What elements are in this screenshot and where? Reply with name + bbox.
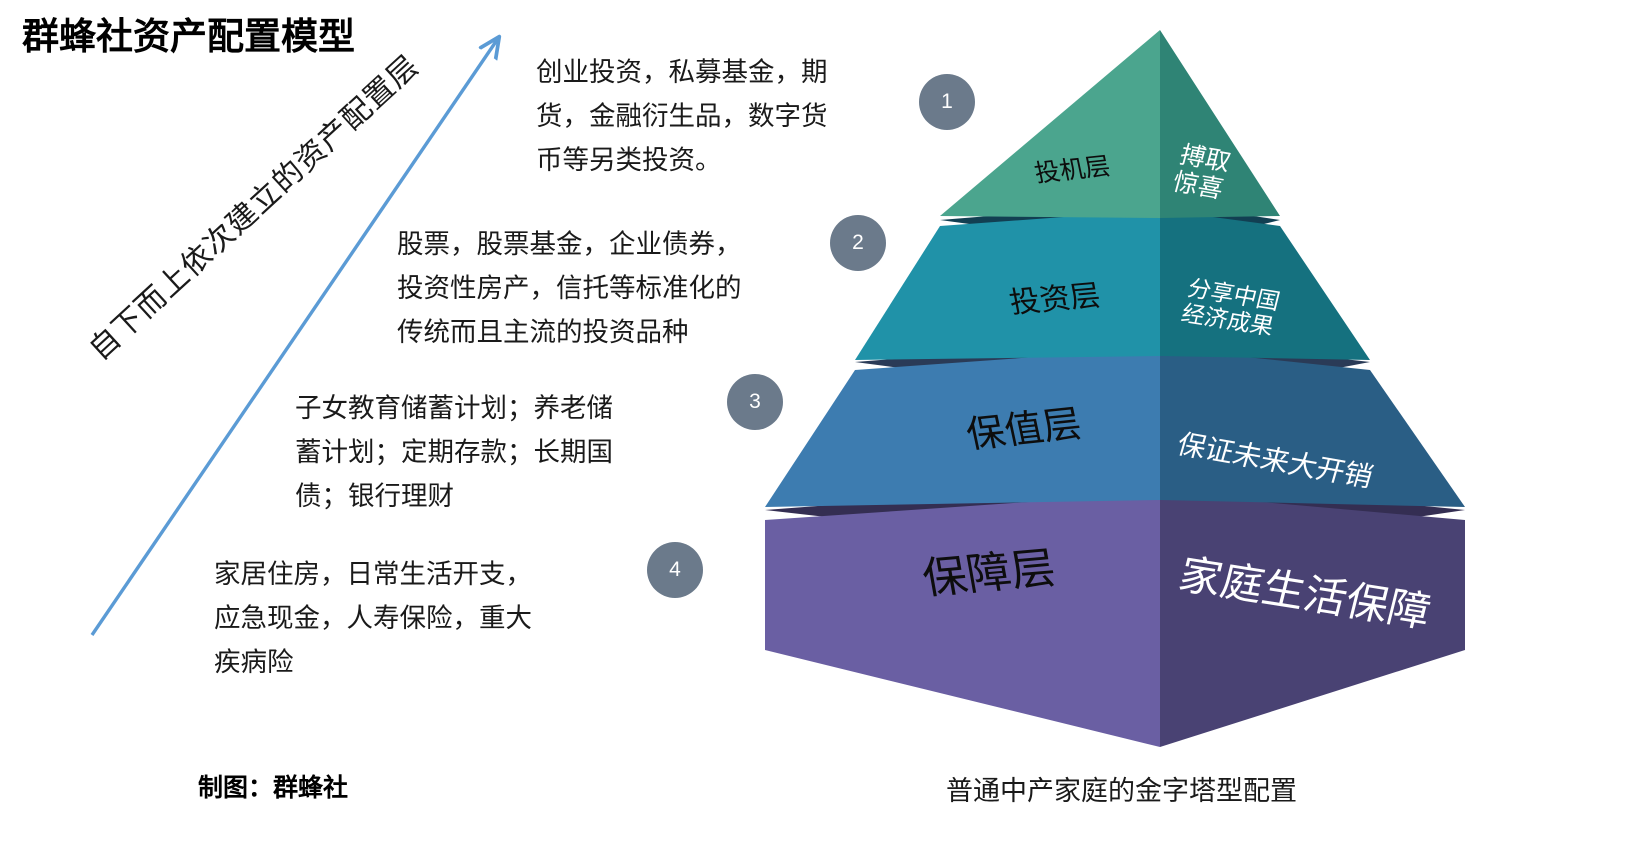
pyramid-caption: 普通中产家庭的金字塔型配置 [946, 769, 1297, 808]
description-line: 债；银行理财 [295, 474, 670, 518]
level-2-right-face [1160, 210, 1370, 360]
description-line: 子女教育储蓄计划；养老储 [295, 386, 670, 430]
description-line: 投资性房产，信托等标准化的 [397, 266, 797, 310]
slide-canvas: 群蜂社资产配置模型 自下而上依次建立的资产配置层 创业投资，私募基金，期 货，金… [0, 0, 1643, 863]
step-badge-4: 4 [647, 542, 703, 598]
description-block-4: 家居住房，日常生活开支， 应急现金，人寿保险，重大 疾病险 [214, 552, 586, 684]
description-line: 应急现金，人寿保险，重大 [214, 596, 586, 640]
description-line: 疾病险 [214, 640, 586, 684]
level-1-right-face [1160, 30, 1280, 218]
description-line: 家居住房，日常生活开支， [214, 552, 586, 596]
level-4-right-face [1160, 493, 1465, 747]
level-1-left-face [940, 30, 1160, 218]
description-block-3: 子女教育储蓄计划；养老储 蓄计划；定期存款；长期国 债；银行理财 [295, 386, 670, 518]
description-line: 蓄计划；定期存款；长期国 [295, 430, 670, 474]
level-3-right-face [1160, 348, 1465, 507]
level-3-left-face [765, 348, 1160, 507]
description-line: 传统而且主流的投资品种 [397, 310, 797, 354]
page-title: 群蜂社资产配置模型 [22, 6, 355, 60]
pyramid-diagram: 投机层 搏取 惊喜 投资层 分享中国 经济成果 保值层 保证未来大开销 保障层 … [745, 10, 1485, 770]
description-block-2: 股票，股票基金，企业债券， 投资性房产，信托等标准化的 传统而且主流的投资品种 [397, 222, 797, 354]
level-2-left-face [855, 210, 1160, 360]
credit-caption: 制图：群蜂社 [198, 768, 348, 804]
level-4-left-face [765, 493, 1160, 747]
description-line: 股票，股票基金，企业债券， [397, 222, 797, 266]
